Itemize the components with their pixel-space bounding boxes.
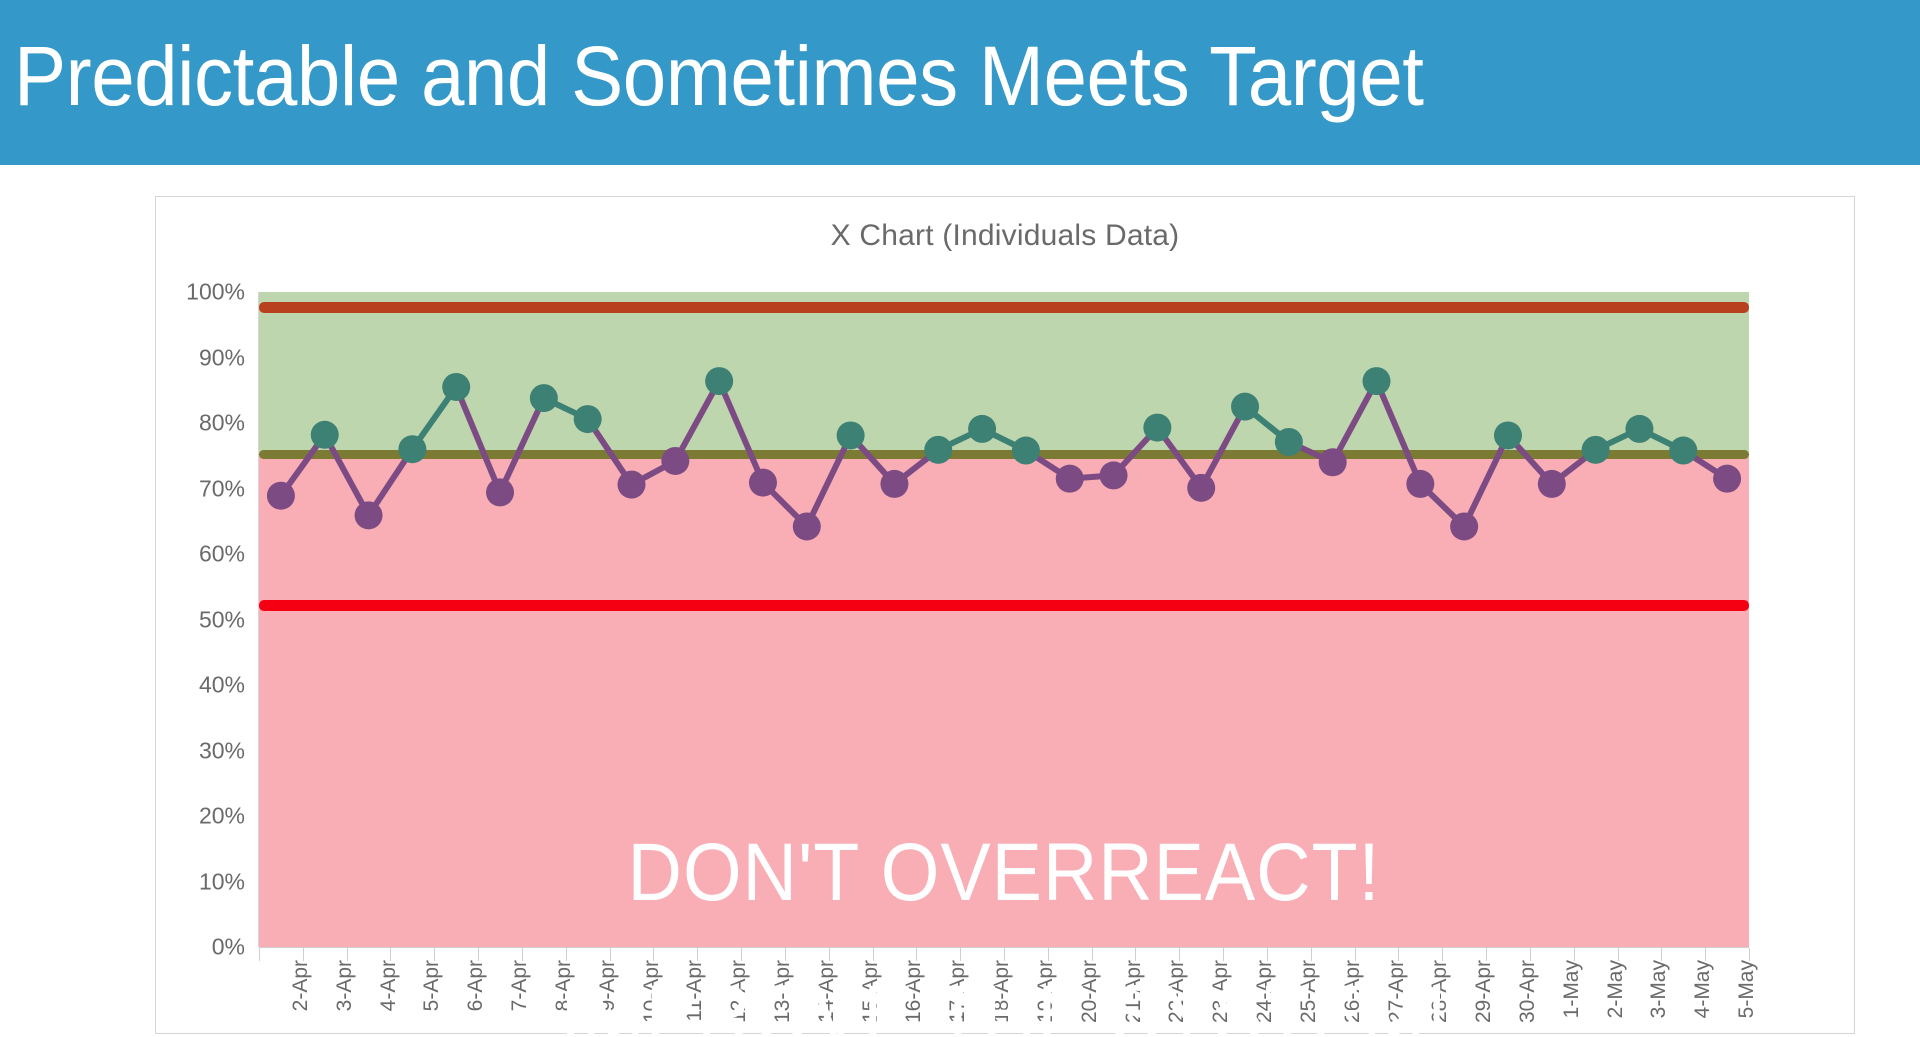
data-point-marker[interactable] [793, 512, 821, 540]
data-point-marker[interactable] [486, 478, 514, 506]
data-point-marker[interactable] [574, 405, 602, 433]
x-tick-label: 5-May [1735, 960, 1759, 1018]
slide-canvas: Predictable and Sometimes Meets Target X… [0, 0, 1920, 1037]
x-tick-label: 8-Apr [552, 960, 576, 1011]
x-tick-label: 4-May [1691, 960, 1715, 1018]
x-tick-label: 14-Apr [815, 960, 839, 1023]
data-point-marker[interactable] [924, 436, 952, 464]
data-series [259, 292, 1749, 947]
data-point-marker[interactable] [837, 421, 865, 449]
x-tick-label: 28-Apr [1428, 960, 1452, 1023]
y-tick-label: 80% [199, 410, 245, 437]
x-tick-label: 2-May [1604, 960, 1628, 1018]
data-point-marker[interactable] [1319, 448, 1347, 476]
x-tick-label: 21-Apr [1122, 960, 1146, 1023]
data-point-marker[interactable] [1143, 414, 1171, 442]
series-segment [456, 387, 500, 492]
y-tick-label: 40% [199, 672, 245, 699]
y-axis: 100%90%80%70%60%50%40%30%20%10%0% [156, 292, 259, 947]
data-point-marker[interactable] [1406, 470, 1434, 498]
data-point-marker[interactable] [1100, 461, 1128, 489]
x-tick-label: 26-Apr [1341, 960, 1365, 1023]
data-point-marker[interactable] [355, 501, 383, 529]
x-tick-label: 19-Apr [1034, 960, 1058, 1023]
data-point-marker[interactable] [398, 435, 426, 463]
y-tick-label: 100% [186, 279, 245, 306]
x-tick-label: 20-Apr [1078, 960, 1102, 1023]
x-tick-label: 7-Apr [508, 960, 532, 1011]
y-tick-label: 90% [199, 344, 245, 371]
data-point-marker[interactable] [618, 471, 646, 499]
y-tick-label: 70% [199, 475, 245, 502]
data-point-marker[interactable] [267, 482, 295, 510]
x-tick-label: 27-Apr [1385, 960, 1409, 1023]
x-tick-label: 3-Apr [333, 960, 357, 1011]
data-point-marker[interactable] [1538, 470, 1566, 498]
y-tick-label: 0% [212, 934, 245, 961]
slide-title-banner: Predictable and Sometimes Meets Target [0, 0, 1920, 165]
series-segment [500, 398, 544, 492]
x-tick-label: 18-Apr [990, 960, 1014, 1023]
series-segment [1464, 435, 1508, 526]
data-point-marker[interactable] [311, 421, 339, 449]
data-point-marker[interactable] [1669, 437, 1697, 465]
data-point-marker[interactable] [1056, 465, 1084, 493]
data-point-marker[interactable] [1713, 465, 1741, 493]
x-tick-label: 13-Apr [771, 960, 795, 1023]
chart-container: X Chart (Individuals Data) 100%90%80%70%… [155, 196, 1855, 1034]
x-tick-label: 16-Apr [902, 960, 926, 1023]
chart-title: X Chart (Individuals Data) [156, 219, 1854, 253]
x-tick-label: 17-Apr [946, 960, 970, 1023]
x-tick-label: 23-Apr [1209, 960, 1233, 1023]
data-point-marker[interactable] [749, 469, 777, 497]
x-tick-label: 29-Apr [1472, 960, 1496, 1023]
data-point-marker[interactable] [968, 415, 996, 443]
data-point-marker[interactable] [442, 373, 470, 401]
x-tick-label: 1-May [1560, 960, 1584, 1018]
series-segment [719, 381, 763, 483]
plot-area [259, 292, 1749, 947]
slide-title: Predictable and Sometimes Meets Target [14, 16, 1423, 136]
series-segment [807, 435, 851, 526]
y-tick-label: 60% [199, 541, 245, 568]
x-tick-label: 5-Apr [420, 960, 444, 1011]
data-point-marker[interactable] [880, 470, 908, 498]
data-point-marker[interactable] [1363, 367, 1391, 395]
data-point-marker[interactable] [1582, 436, 1610, 464]
x-tick-label: 24-Apr [1253, 960, 1277, 1023]
series-segment [1377, 381, 1421, 484]
y-tick-label: 30% [199, 737, 245, 764]
data-point-marker[interactable] [1625, 415, 1653, 443]
data-point-marker[interactable] [705, 367, 733, 395]
data-point-marker[interactable] [661, 447, 689, 475]
x-tick-label: 3-May [1647, 960, 1671, 1018]
x-tick-label: 2-Apr [289, 960, 313, 1011]
x-axis-labels: 2-Apr3-Apr4-Apr5-Apr6-Apr7-Apr8-Apr9-Apr… [259, 960, 1749, 1037]
data-point-marker[interactable] [1012, 437, 1040, 465]
x-tick-label: 30-Apr [1516, 960, 1540, 1023]
data-point-marker[interactable] [1275, 428, 1303, 456]
y-tick-label: 20% [199, 803, 245, 830]
data-point-marker[interactable] [1494, 421, 1522, 449]
x-tick-label: 15-Apr [859, 960, 883, 1023]
x-tick-label: 22-Apr [1165, 960, 1189, 1023]
y-tick-label: 10% [199, 868, 245, 895]
x-tick-label: 11-Apr [683, 960, 707, 1021]
x-tick-label: 12-Apr [727, 960, 751, 1023]
data-point-marker[interactable] [1187, 474, 1215, 502]
x-tick-label: 25-Apr [1297, 960, 1321, 1023]
x-tick-label: 10-Apr [640, 960, 664, 1023]
x-tick-label: 4-Apr [377, 960, 401, 1011]
y-tick-label: 50% [199, 606, 245, 633]
data-point-marker[interactable] [1450, 512, 1478, 540]
data-point-marker[interactable] [1231, 393, 1259, 421]
x-tick-label: 9-Apr [596, 960, 620, 1011]
data-point-marker[interactable] [530, 384, 558, 412]
x-tick-label: 6-Apr [464, 960, 488, 1011]
